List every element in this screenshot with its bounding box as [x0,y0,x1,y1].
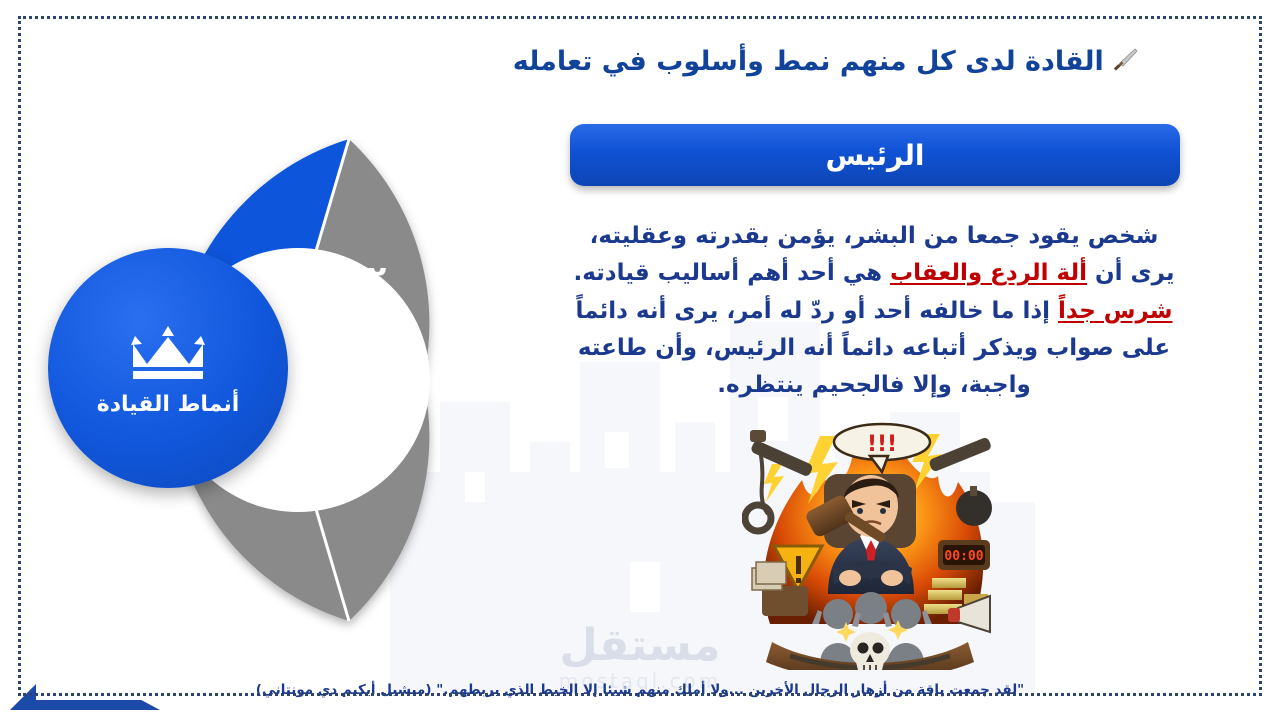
page-title: القادة لدى كل منهم نمط وأسلوب في تعامله [450,46,1210,77]
section-banner: الرئيس [570,124,1180,186]
donut-segment-1-number: ١ [236,145,254,180]
footer-quote: "لقد جمعت باقة من أزهار الرجال الأخرين .… [0,682,1280,698]
svg-text:00:00: 00:00 [944,549,983,564]
page-title-text: القادة لدى كل منهم نمط وأسلوب في تعامله [513,46,1104,77]
presentation-slide: مستقل mostaql.com [0,0,1280,720]
donut-center-label: أنماط القيادة [97,392,239,417]
paragraph-highlight-2: شرس جداً [1058,298,1172,324]
paragraph-part-2: هي أحد أهم أساليب قيادته. [573,260,890,286]
paragraph-highlight-1: ألة الردع والعقاب [890,260,1087,286]
angry-boss-illustration: !!! [742,418,996,670]
donut-segment-3-number: ٣ [368,457,386,492]
sword-icon [1113,47,1139,73]
crown-icon [125,320,211,382]
section-banner-label: الرئيس [825,139,924,172]
donut-segment-4-number: ٤ [232,577,250,612]
svg-text:!!!: !!! [867,432,897,457]
donut-segment-2-number: ٢ [368,260,386,295]
body-paragraph: شخص يقود جمعا من البشر، يؤمن بقدرته وعقل… [564,218,1184,404]
donut-center-badge: أنماط القيادة [48,248,288,488]
